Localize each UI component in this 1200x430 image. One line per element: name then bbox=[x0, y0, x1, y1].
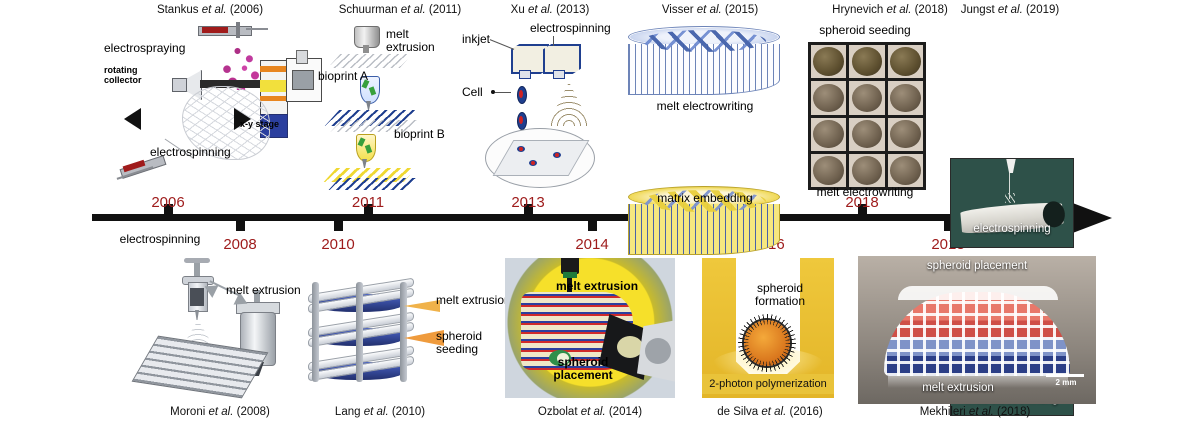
scaffold-melt-electrowriting bbox=[628, 26, 780, 94]
label-spheroid-formation: spheroid formation bbox=[734, 282, 826, 309]
photo-electrospinning-tube: electrospinning bbox=[950, 158, 1074, 248]
well bbox=[811, 45, 846, 78]
label-spheroid-placement-mekhileri: spheroid placement bbox=[858, 260, 1096, 272]
label-melt-electrowriting-hrynevich: melt electrowriting bbox=[790, 186, 940, 199]
citation-jungst: Jungst et al. (2019) bbox=[930, 4, 1090, 16]
label-melt-extrusion-schuurman: melt extrusion bbox=[386, 28, 456, 55]
well bbox=[849, 154, 884, 187]
timeline-figure: 2006 2011 2013 2015 2018 2019 2008 2010 … bbox=[0, 0, 1200, 430]
year-label-2006: 2006 bbox=[138, 194, 198, 211]
label-melt-extrusion-ozbolat: melt extrusion bbox=[556, 280, 676, 293]
well bbox=[888, 118, 923, 151]
label-spheroid-placement-ozbolat: spheroid placement bbox=[528, 356, 638, 383]
citation-mekhileri: Mekhileri et al. (2018) bbox=[880, 406, 1070, 418]
label-melt-extrusion-mekhileri: melt extrusion bbox=[858, 382, 1058, 394]
citation-lang: Lang et al. (2010) bbox=[300, 406, 460, 418]
well bbox=[888, 45, 923, 78]
year-label-2014: 2014 bbox=[562, 236, 622, 253]
label-electrospinning-xu: electrospinning bbox=[530, 22, 640, 35]
label-cell: Cell bbox=[462, 86, 502, 99]
label-matrix-embedding: matrix embedding bbox=[620, 192, 790, 205]
tick-2008 bbox=[236, 220, 245, 231]
citation-ozbolat: Ozbolat et al. (2014) bbox=[510, 406, 670, 418]
well bbox=[849, 81, 884, 114]
label-electrospinning-stankus: electrospinning bbox=[150, 146, 280, 159]
label-spheroid-seeding-hrynevich: spheroid seeding bbox=[800, 24, 930, 37]
tick-2014 bbox=[588, 220, 597, 231]
year-label-2011: 2011 bbox=[338, 194, 398, 211]
well bbox=[888, 81, 923, 114]
citation-stankus: Stankus et al. (2006) bbox=[110, 4, 310, 16]
well bbox=[849, 45, 884, 78]
label-melt-electrowriting-visser: melt electrowriting bbox=[620, 100, 790, 113]
citation-moroni: Moroni et al. (2008) bbox=[120, 406, 320, 418]
year-label-2010: 2010 bbox=[308, 236, 368, 253]
label-melt-extrusion-lang: melt extrusion bbox=[436, 294, 516, 307]
label-bioprint-a: bioprint A bbox=[318, 70, 374, 83]
photo-desilva bbox=[702, 258, 834, 398]
well bbox=[811, 81, 846, 114]
label-xy-stage: x-y stage bbox=[240, 120, 290, 130]
photo-label-electrospinning: electrospinning bbox=[951, 223, 1073, 235]
label-bioprint-b: bioprint B bbox=[394, 128, 450, 141]
well bbox=[811, 154, 846, 187]
citation-visser: Visser et al. (2015) bbox=[625, 4, 795, 16]
panel-lang-art bbox=[300, 278, 420, 388]
well bbox=[888, 154, 923, 187]
year-label-2013: 2013 bbox=[498, 194, 558, 211]
citation-xu: Xu et al. (2013) bbox=[470, 4, 630, 16]
label-melt-extrusion-moroni: melt extrusion bbox=[226, 284, 306, 297]
well bbox=[849, 118, 884, 151]
label-rotating-collector: rotating collector bbox=[104, 66, 158, 86]
timeline-arrowhead bbox=[1070, 202, 1112, 234]
citation-desilva: de Silva et al. (2016) bbox=[690, 406, 850, 418]
label-spheroid-seeding-lang: spheroid seeding bbox=[436, 330, 516, 357]
label-electrospraying: electrospraying bbox=[104, 42, 204, 55]
panel-xu-art bbox=[455, 24, 615, 190]
axis-side-label-electrospinning: electrospinning bbox=[100, 232, 220, 246]
label-inkjet: inkjet bbox=[462, 33, 522, 46]
tick-2010 bbox=[334, 220, 343, 231]
well bbox=[811, 118, 846, 151]
panel-moroni-art bbox=[130, 258, 310, 398]
label-two-photon-polymerization: 2-photon polymerization bbox=[702, 378, 834, 390]
well-plate-image bbox=[808, 42, 926, 190]
